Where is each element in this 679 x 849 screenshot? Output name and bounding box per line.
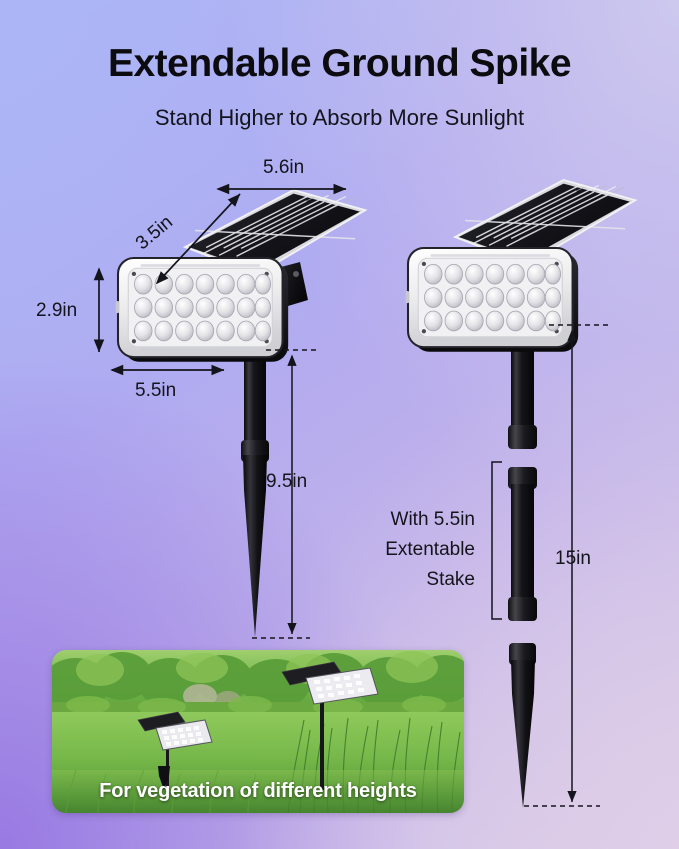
extension-bracket xyxy=(492,462,502,619)
dim-label-lamp-height: 2.9in xyxy=(36,300,77,322)
dim-arrow-panel-depth xyxy=(157,194,240,283)
extension-note-line-3: Stake xyxy=(300,565,475,595)
dim-label-left-total: 9.5in xyxy=(266,471,307,493)
dim-label-lamp-width: 5.5in xyxy=(135,380,176,402)
dim-label-panel-width: 5.6in xyxy=(263,157,304,179)
dim-label-right-total: 15in xyxy=(555,548,591,570)
extension-note-line-2: Extentable xyxy=(300,535,475,565)
extension-note-line-1: With 5.5in xyxy=(300,505,475,535)
photo-caption: For vegetation of different heights xyxy=(52,780,464,803)
lifestyle-photo: For vegetation of different heights xyxy=(52,650,464,813)
extension-note: With 5.5in Extentable Stake xyxy=(300,505,475,595)
